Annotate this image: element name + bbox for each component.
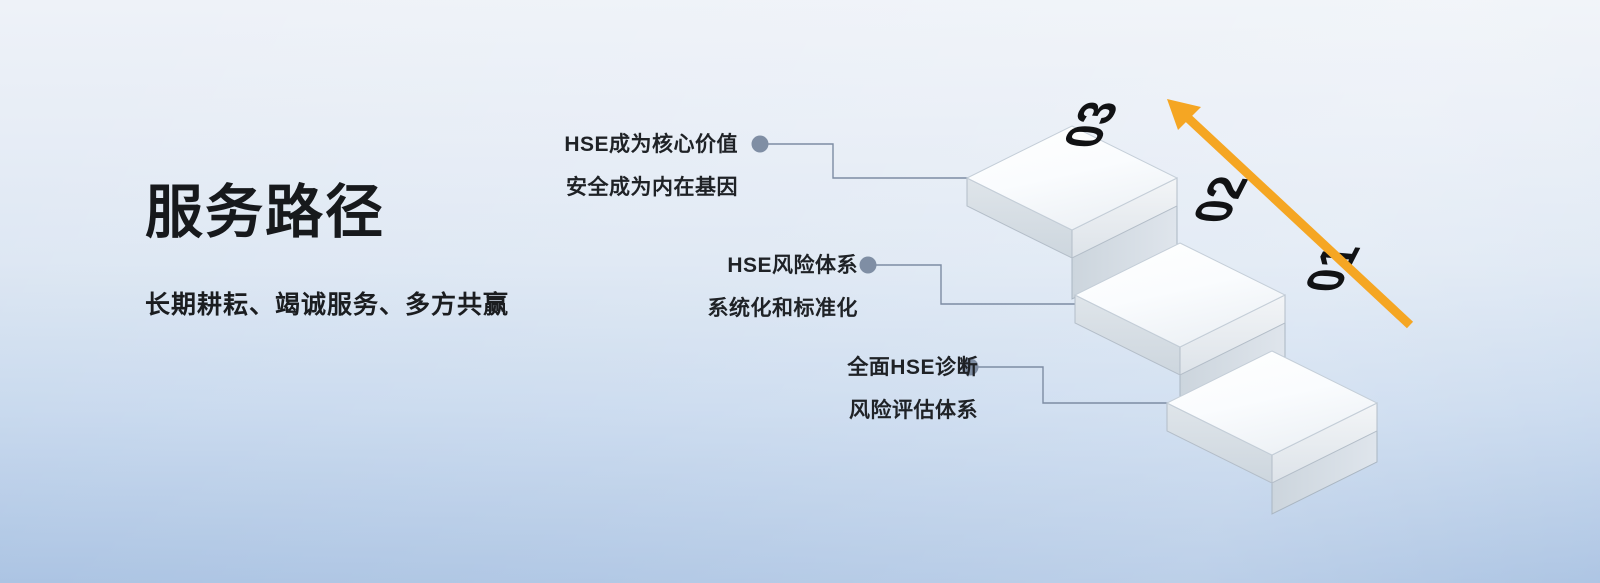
page-title: 服务路径 <box>145 182 509 243</box>
step-number-03: 03 <box>1052 98 1131 150</box>
step-label-02-line1: HSE风险体系 <box>708 255 859 276</box>
heading-group: 服务路径 长期耕耘、竭诚服务、多方共赢 <box>145 182 509 321</box>
step-label-03: HSE成为核心价值 安全成为内在基因 <box>564 134 738 198</box>
slide-canvas: 服务路径 长期耕耘、竭诚服务、多方共赢 HSE成为核心价值 安全成为内在基因 H… <box>0 0 1600 583</box>
step-label-02-line2: 系统化和标准化 <box>708 298 859 319</box>
step-label-03-line1: HSE成为核心价值 <box>564 134 738 155</box>
step-dot-03[interactable] <box>752 136 769 153</box>
page-subtitle: 长期耕耘、竭诚服务、多方共赢 <box>145 243 509 321</box>
connector-line-03 <box>768 144 1010 178</box>
step-label-02: HSE风险体系 系统化和标准化 <box>708 255 859 319</box>
step-label-01-line1: 全面HSE诊断 <box>847 357 978 378</box>
step-dot-02[interactable] <box>860 257 877 274</box>
step-label-01-line2: 风险评估体系 <box>847 400 978 421</box>
step-label-03-line2: 安全成为内在基因 <box>564 177 738 198</box>
step-label-01: 全面HSE诊断 风险评估体系 <box>847 357 978 421</box>
